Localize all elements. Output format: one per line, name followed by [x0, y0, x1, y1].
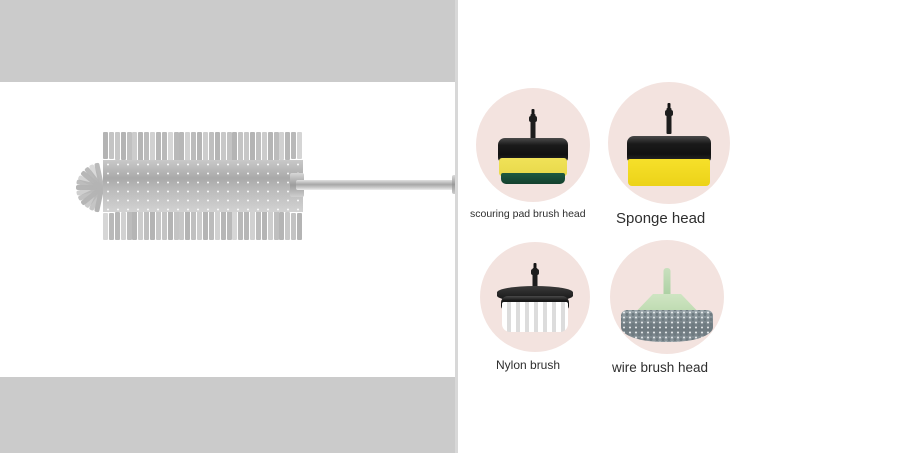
label-wire-brush-head: wire brush head [612, 360, 780, 375]
bristle-tuft [185, 208, 190, 240]
brush-core-texture [103, 160, 303, 212]
bristle-tuft [156, 209, 161, 240]
bristle-tuft [115, 212, 120, 240]
bristle-tuft [138, 132, 143, 162]
bottom-gray-band [0, 377, 455, 453]
product-image-composite: scouring pad brush head Sponge head [0, 0, 919, 453]
nylon-brush-image [480, 242, 590, 352]
bristle-tuft [132, 132, 137, 161]
bristle-tuft [262, 210, 267, 240]
bristle-tuft [144, 210, 149, 240]
brush-metal-shaft [296, 180, 455, 190]
bristle-tuft [132, 211, 137, 240]
bristle-tuft [191, 208, 196, 240]
bristle-tuft [215, 208, 220, 240]
sponge-head-image [608, 82, 730, 204]
steel-wire-mesh [621, 310, 713, 342]
bristle-tuft [285, 132, 290, 160]
bristle-tuft [232, 209, 237, 240]
bristle-tuft [209, 208, 214, 240]
bristle-tuft [232, 132, 237, 163]
scouring-pad-brush-head-image [476, 88, 590, 202]
bristle-tuft [227, 208, 232, 240]
bristle-tuft [121, 212, 126, 240]
bristle-tuft [244, 209, 249, 240]
green-stem-icon [664, 268, 671, 298]
bristle-tuft [179, 208, 184, 240]
bristle-tuft [268, 132, 273, 161]
bristle-tuft [256, 210, 261, 240]
bristle-tuft [297, 213, 302, 240]
bristle-tuft [291, 132, 296, 159]
bristle-tuft [238, 132, 243, 163]
top-gray-band [0, 0, 455, 82]
bristle-tuft [227, 132, 232, 164]
bristle-tuft [174, 208, 179, 240]
bristle-tuft [256, 132, 261, 162]
bristle-tuft [150, 210, 155, 240]
bristle-tuft [244, 132, 249, 163]
bristle-tuft [162, 132, 167, 163]
bristle-tuft [238, 209, 243, 240]
bristle-tuft [285, 212, 290, 240]
bristle-tuft [250, 210, 255, 240]
bristle-tuft [103, 132, 108, 159]
bristle-tuft [109, 132, 114, 159]
green-scour-layer [501, 173, 565, 184]
bristle-tuft [297, 132, 302, 159]
bristle-tuft [121, 132, 126, 160]
yellow-sponge-block [628, 159, 710, 186]
left-product-photo-panel [0, 0, 455, 453]
bristle-tuft [179, 132, 184, 164]
bristle-tuft [144, 132, 149, 162]
bristle-tuft [274, 211, 279, 240]
bristle-tuft [127, 132, 132, 161]
wire-brush-head-image [610, 240, 724, 354]
bristle-tuft [168, 209, 173, 240]
bottle-brush-product [78, 132, 423, 240]
bristle-tuft [221, 208, 226, 240]
label-sponge-head: Sponge head [616, 210, 778, 227]
bristle-tuft [115, 132, 120, 160]
bristle-tuft [150, 132, 155, 162]
bristle-tuft [156, 132, 161, 163]
bristle-tuft [103, 213, 108, 240]
bristle-tuft [262, 132, 267, 162]
bristle-tuft [162, 209, 167, 240]
bristle-tuft [127, 211, 132, 240]
bristle-tuft [197, 208, 202, 240]
bristle-tuft [221, 132, 226, 164]
stem-shaft-icon [667, 108, 672, 134]
bristle-tuft [279, 132, 284, 160]
right-accessories-panel: scouring pad brush head Sponge head [458, 0, 919, 453]
bristle-tuft [291, 213, 296, 240]
bristle-tuft [274, 132, 279, 161]
bristle-tuft [109, 213, 114, 240]
bristle-tuft [203, 208, 208, 240]
bristle-tuft [268, 211, 273, 240]
head-cell-wire-brush: wire brush head [610, 240, 780, 375]
stem-shaft-icon [531, 114, 536, 140]
bristle-tuft [168, 132, 173, 163]
head-cell-sponge: Sponge head [608, 82, 778, 227]
bristle-tuft [174, 132, 179, 164]
bristle-tuft [138, 210, 143, 240]
white-nylon-bristles [502, 302, 568, 332]
bristle-tuft [250, 132, 255, 162]
bristle-tuft [279, 212, 284, 240]
